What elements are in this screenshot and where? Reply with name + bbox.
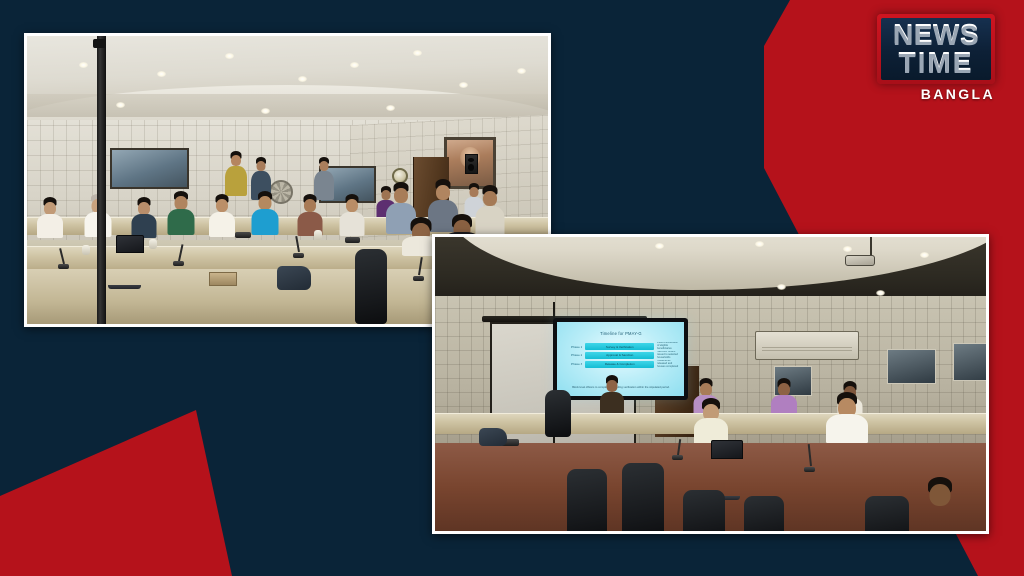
- office-chair: [865, 496, 909, 531]
- person: [131, 200, 156, 238]
- slide-bar: Approval & Sanction: [585, 352, 654, 359]
- laptop-screen: [116, 235, 144, 253]
- microphone-windscreen: [314, 230, 322, 240]
- person: [209, 197, 235, 237]
- person: [37, 200, 63, 238]
- microphone-base: [345, 237, 360, 243]
- slide-bar: Survey & Verification: [585, 343, 654, 350]
- office-chair: [744, 496, 784, 531]
- red-quadrilateral-shape: [0, 380, 300, 576]
- wooden-stool: [209, 272, 237, 286]
- slide-note: Instalments released and houses complete…: [657, 360, 679, 369]
- framed-picture: [110, 148, 188, 188]
- logo-text-time: TIME: [899, 50, 974, 77]
- slide-title: Timeline for PMAY-G: [600, 331, 642, 336]
- person: [340, 197, 365, 236]
- office-chair: [545, 390, 571, 437]
- slide-note: Field enumeration of eligible beneficiar…: [657, 342, 679, 351]
- office-chair: [567, 469, 607, 531]
- broadcast-graphic-stage: Timeline for PMAY-G Phase 1 Survey & Ver…: [0, 0, 1024, 576]
- logo-text-bangla: BANGLA: [921, 86, 995, 102]
- support-pole: [97, 36, 106, 324]
- person-standing: [225, 154, 247, 196]
- microphone-base: [413, 276, 424, 281]
- microphone-base: [58, 264, 69, 269]
- slide-row-label: Phase 2: [563, 353, 583, 357]
- microphone-base: [235, 232, 251, 238]
- person: [600, 378, 624, 414]
- downlight-icon: [79, 62, 88, 68]
- air-conditioner: [755, 331, 860, 360]
- photo-2-image: Timeline for PMAY-G Phase 1 Survey & Ver…: [435, 237, 986, 531]
- laptop-base: [108, 285, 141, 289]
- slide-row-label: Phase 1: [563, 345, 583, 349]
- ceiling-projector: [845, 255, 875, 266]
- framed-photograph: [953, 343, 986, 381]
- logo-inner: NEWS TIME: [881, 18, 991, 80]
- wall-speaker-icon: [465, 154, 478, 174]
- office-chair: [683, 490, 725, 531]
- person-speaking: [826, 396, 868, 444]
- microphone-windscreen: [82, 245, 90, 255]
- downlight-icon: [157, 71, 166, 77]
- person: [168, 194, 195, 235]
- laptop-bag: [277, 266, 311, 290]
- microphone-base: [672, 455, 683, 460]
- slide-row: Phase 2 Approval & Sanction Sanction ord…: [563, 351, 680, 360]
- downlight-icon: [777, 284, 786, 290]
- channel-logo: NEWS TIME BANGLA: [877, 14, 1001, 110]
- photo-conference-room-presentation[interactable]: Timeline for PMAY-G Phase 1 Survey & Ver…: [432, 234, 989, 534]
- laptop-bag: [479, 428, 507, 446]
- microphone-windscreen: [149, 239, 157, 249]
- slide-row: Phase 3 Release & Completion Instalments…: [563, 360, 680, 369]
- laptop-screen: [711, 440, 743, 459]
- slide-row: Phase 1 Survey & Verification Field enum…: [563, 342, 680, 351]
- downlight-icon: [116, 102, 125, 108]
- slide-row-label: Phase 3: [563, 362, 583, 366]
- microphone-base: [173, 261, 184, 266]
- person: [251, 194, 278, 235]
- slide-rows: Phase 1 Survey & Verification Field enum…: [563, 342, 680, 369]
- person-standing: [314, 160, 334, 200]
- support-pole-cap: [93, 39, 106, 48]
- slide-bar: Release & Completion: [585, 361, 654, 368]
- office-chair: [622, 463, 664, 531]
- downlight-icon: [517, 68, 526, 74]
- downlight-icon: [843, 246, 852, 252]
- downlight-icon: [350, 62, 359, 68]
- microphone-base: [293, 253, 304, 258]
- slide-note: Sanction orders issued to selected house…: [657, 351, 679, 360]
- downlight-icon: [920, 252, 929, 258]
- logo-card: NEWS TIME: [877, 14, 995, 84]
- person-foreground: [920, 481, 960, 531]
- framed-photograph: [887, 349, 937, 384]
- microphone-base: [804, 467, 815, 472]
- office-chair: [355, 249, 387, 324]
- logo-text-news: NEWS: [893, 22, 979, 49]
